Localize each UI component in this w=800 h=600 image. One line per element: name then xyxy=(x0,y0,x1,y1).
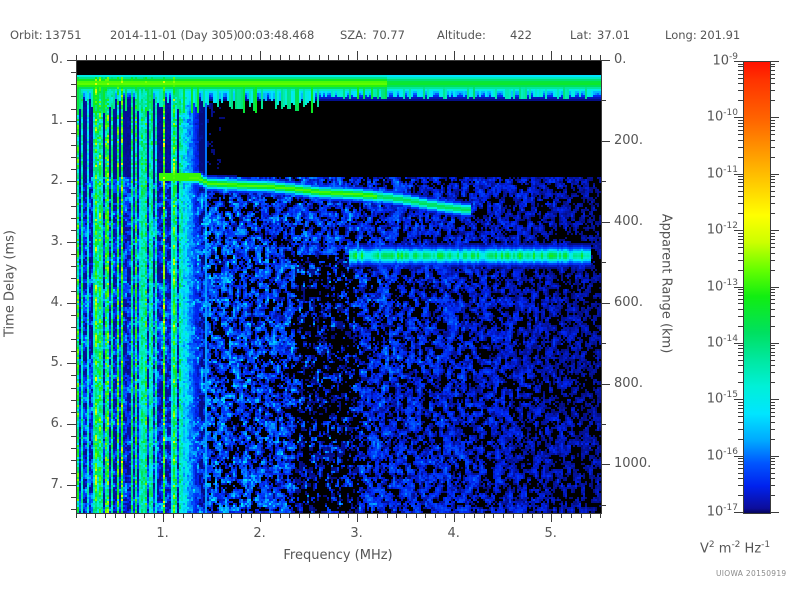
axis-tick xyxy=(513,55,514,60)
axis-tick xyxy=(396,513,397,518)
axis-tick xyxy=(71,291,76,292)
axis-tick xyxy=(154,513,155,518)
axis-tick xyxy=(474,513,475,518)
axis-tick xyxy=(71,109,76,110)
axis-tick xyxy=(601,181,606,182)
axis-tick xyxy=(71,72,76,73)
axis-tick xyxy=(387,55,388,60)
axis-tick xyxy=(445,55,446,60)
axis-tick xyxy=(601,222,610,223)
axis-tick xyxy=(95,55,96,60)
axis-tick xyxy=(71,315,76,316)
colorbar xyxy=(743,61,771,514)
axis-tick xyxy=(600,513,601,518)
axis-tick xyxy=(734,117,743,118)
axis-tick xyxy=(67,424,76,425)
axis-tick xyxy=(309,513,310,518)
axis-tick xyxy=(770,399,779,400)
axis-tick xyxy=(338,513,339,518)
y-left-tick-label-6: 6. xyxy=(0,416,63,431)
axis-tick xyxy=(260,513,261,522)
axis-tick xyxy=(367,55,368,60)
axis-tick xyxy=(192,513,193,518)
x-tick-label-2: 2. xyxy=(253,526,265,541)
axis-tick xyxy=(770,456,779,457)
axis-tick xyxy=(601,384,610,385)
x-tick-label-5: 5. xyxy=(544,526,556,541)
axis-tick xyxy=(601,262,606,263)
axis-tick xyxy=(163,51,164,60)
axis-tick xyxy=(734,287,743,288)
axis-tick xyxy=(601,505,606,506)
axis-tick xyxy=(406,513,407,518)
axis-tick xyxy=(319,55,320,60)
axis-tick xyxy=(71,473,76,474)
y-axis-left-title: Time Delay (ms) xyxy=(3,224,18,344)
y-right-tick-label-1000: 1000. xyxy=(614,456,651,471)
axis-tick xyxy=(241,55,242,60)
axis-tick xyxy=(67,242,76,243)
header-metadata-bar: Orbit: 13751 2014-11-01 (Day 305) 00:03:… xyxy=(0,28,800,46)
watermark-text: UIOWA 20150919 xyxy=(716,569,787,578)
axis-tick xyxy=(542,513,543,518)
colorbar-tick-label--17: 10-17 xyxy=(660,503,738,519)
axis-tick xyxy=(71,509,76,510)
colorbar-gradient xyxy=(744,62,770,513)
axis-tick xyxy=(590,55,591,60)
axis-tick xyxy=(396,55,397,60)
axis-tick xyxy=(86,513,87,518)
axis-tick xyxy=(513,513,514,518)
colorbar-tick-label--15: 10-15 xyxy=(660,390,738,406)
y-left-tick-label-1: 1. xyxy=(0,113,63,128)
axis-tick xyxy=(115,513,116,518)
axis-tick xyxy=(601,100,606,101)
axis-tick xyxy=(601,60,610,61)
axis-tick xyxy=(71,436,76,437)
axis-tick xyxy=(435,55,436,60)
axis-tick xyxy=(134,513,135,518)
axis-tick xyxy=(231,55,232,60)
axis-tick xyxy=(328,513,329,518)
axis-tick xyxy=(183,55,184,60)
axis-tick xyxy=(454,51,455,60)
axis-tick xyxy=(551,513,552,522)
axis-tick xyxy=(770,512,779,513)
axis-tick xyxy=(425,513,426,518)
axis-tick xyxy=(464,55,465,60)
x-tick-label-4: 4. xyxy=(447,526,459,541)
axis-tick xyxy=(551,51,552,60)
long-label: Long: xyxy=(665,28,697,42)
axis-tick xyxy=(115,55,116,60)
orbit-label: Orbit: xyxy=(10,28,43,42)
axis-tick xyxy=(328,55,329,60)
axis-tick xyxy=(71,400,76,401)
y-right-tick-label-600: 600. xyxy=(614,295,643,310)
axis-tick xyxy=(493,55,494,60)
axis-tick xyxy=(163,513,164,522)
axis-tick xyxy=(299,55,300,60)
axis-tick xyxy=(581,55,582,60)
observation-date: 2014-11-01 (Day 305) xyxy=(110,28,238,42)
axis-tick xyxy=(493,513,494,518)
x-tick-label-3: 3. xyxy=(350,526,362,541)
axis-tick xyxy=(280,513,281,518)
orbit-value: 13751 xyxy=(45,28,82,42)
axis-tick xyxy=(309,55,310,60)
axis-tick xyxy=(71,96,76,97)
axis-tick xyxy=(522,55,523,60)
axis-tick xyxy=(601,464,610,465)
y-right-tick-label-0: 0. xyxy=(614,52,626,67)
axis-tick xyxy=(231,513,232,518)
axis-tick xyxy=(590,513,591,518)
axis-tick xyxy=(71,193,76,194)
axis-tick xyxy=(71,460,76,461)
axis-tick xyxy=(601,343,606,344)
axis-tick xyxy=(173,513,174,518)
axis-tick xyxy=(125,55,126,60)
axis-tick xyxy=(425,55,426,60)
axis-tick xyxy=(416,55,417,60)
axis-tick xyxy=(173,55,174,60)
axis-tick xyxy=(416,513,417,518)
axis-tick xyxy=(445,513,446,518)
lat-label: Lat: xyxy=(570,28,592,42)
axis-tick xyxy=(105,513,106,518)
axis-tick xyxy=(503,55,504,60)
axis-tick xyxy=(212,55,213,60)
axis-tick xyxy=(71,206,76,207)
colorbar-tick-label--9: 10-9 xyxy=(660,52,738,68)
axis-tick xyxy=(770,61,779,62)
axis-tick xyxy=(67,181,76,182)
axis-tick xyxy=(71,351,76,352)
axis-tick xyxy=(435,513,436,518)
axis-tick xyxy=(154,55,155,60)
axis-tick xyxy=(71,157,76,158)
axis-tick xyxy=(202,55,203,60)
axis-tick xyxy=(571,513,572,518)
axis-tick xyxy=(270,55,271,60)
spectrogram-image xyxy=(77,61,601,513)
axis-tick xyxy=(71,133,76,134)
y-left-tick-label-5: 5. xyxy=(0,355,63,370)
axis-tick xyxy=(319,513,320,518)
altitude-value: 422 xyxy=(510,28,532,42)
axis-tick xyxy=(484,513,485,518)
lat-value: 37.01 xyxy=(597,28,630,42)
axis-tick xyxy=(76,513,77,518)
axis-tick xyxy=(134,55,135,60)
axis-tick xyxy=(289,513,290,518)
axis-tick xyxy=(503,513,504,518)
axis-tick xyxy=(222,513,223,518)
long-value: 201.91 xyxy=(700,28,740,42)
x-tick-label-1: 1. xyxy=(156,526,168,541)
axis-tick xyxy=(338,55,339,60)
axis-tick xyxy=(474,55,475,60)
axis-tick xyxy=(770,230,779,231)
y-left-tick-label-7: 7. xyxy=(0,477,63,492)
y-right-tick-label-400: 400. xyxy=(614,214,643,229)
axis-tick xyxy=(270,513,271,518)
y-left-tick-label-0: 0. xyxy=(0,52,63,67)
axis-tick xyxy=(601,424,606,425)
axis-tick xyxy=(601,303,610,304)
axis-tick xyxy=(125,513,126,518)
axis-tick xyxy=(734,61,743,62)
axis-tick xyxy=(67,363,76,364)
y-left-tick-label-2: 2. xyxy=(0,173,63,188)
axis-tick xyxy=(522,513,523,518)
axis-tick xyxy=(71,266,76,267)
axis-tick xyxy=(542,55,543,60)
axis-tick xyxy=(86,55,87,60)
axis-tick xyxy=(734,343,743,344)
axis-tick xyxy=(532,55,533,60)
axis-tick xyxy=(561,513,562,518)
observation-time: 00:03:48.468 xyxy=(237,28,314,42)
axis-tick xyxy=(251,513,252,518)
axis-tick xyxy=(71,278,76,279)
axis-tick xyxy=(357,513,358,522)
axis-tick xyxy=(377,55,378,60)
axis-tick xyxy=(144,513,145,518)
axis-tick xyxy=(144,55,145,60)
axis-tick xyxy=(601,141,610,142)
axis-tick xyxy=(770,343,779,344)
axis-tick xyxy=(71,169,76,170)
axis-tick xyxy=(192,55,193,60)
sza-label: SZA: xyxy=(340,28,367,42)
axis-tick xyxy=(105,55,106,60)
axis-tick xyxy=(464,513,465,518)
axis-tick xyxy=(770,287,779,288)
axis-tick xyxy=(734,456,743,457)
axis-tick xyxy=(734,230,743,231)
axis-tick xyxy=(71,327,76,328)
axis-tick xyxy=(71,84,76,85)
axis-tick xyxy=(71,230,76,231)
axis-tick xyxy=(67,60,76,61)
axis-tick xyxy=(561,55,562,60)
sza-value: 70.77 xyxy=(372,28,405,42)
axis-tick xyxy=(484,55,485,60)
colorbar-tick-label--16: 10-16 xyxy=(660,447,738,463)
axis-tick xyxy=(367,513,368,518)
y-right-tick-label-800: 800. xyxy=(614,376,643,391)
axis-tick xyxy=(95,513,96,518)
axis-tick xyxy=(251,55,252,60)
axis-tick xyxy=(222,55,223,60)
colorbar-tick-label--11: 10-11 xyxy=(660,165,738,181)
axis-tick xyxy=(348,513,349,518)
altitude-label: Altitude: xyxy=(437,28,486,42)
axis-tick xyxy=(71,388,76,389)
axis-tick xyxy=(357,51,358,60)
axis-tick xyxy=(280,55,281,60)
axis-tick xyxy=(71,339,76,340)
axis-tick xyxy=(76,55,77,60)
axis-tick xyxy=(348,55,349,60)
axis-tick xyxy=(734,399,743,400)
axis-tick xyxy=(581,513,582,518)
axis-tick xyxy=(183,513,184,518)
axis-tick xyxy=(67,303,76,304)
axis-tick xyxy=(299,513,300,518)
axis-tick xyxy=(71,412,76,413)
axis-tick xyxy=(734,174,743,175)
axis-tick xyxy=(71,448,76,449)
axis-tick xyxy=(212,513,213,518)
axis-tick xyxy=(770,117,779,118)
axis-tick xyxy=(289,55,290,60)
axis-tick xyxy=(71,145,76,146)
axis-tick xyxy=(241,513,242,518)
y-axis-right-title: Apparent Range (km) xyxy=(659,209,674,359)
axis-tick xyxy=(71,497,76,498)
axis-tick xyxy=(71,375,76,376)
colorbar-tick-label--10: 10-10 xyxy=(660,108,738,124)
axis-tick xyxy=(532,513,533,518)
axis-tick xyxy=(571,55,572,60)
y-right-tick-label-200: 200. xyxy=(614,133,643,148)
ionogram-spectrogram-plot xyxy=(76,60,602,514)
axis-tick xyxy=(406,55,407,60)
axis-tick xyxy=(454,513,455,522)
axis-tick xyxy=(734,512,743,513)
colorbar-units-label: V2 m-2 Hz-1 xyxy=(700,540,770,556)
axis-tick xyxy=(202,513,203,518)
axis-tick xyxy=(387,513,388,518)
axis-tick xyxy=(377,513,378,518)
axis-tick xyxy=(71,218,76,219)
x-axis-title: Frequency (MHz) xyxy=(278,548,398,563)
axis-tick xyxy=(67,121,76,122)
axis-tick xyxy=(71,254,76,255)
axis-tick xyxy=(67,485,76,486)
axis-tick xyxy=(770,174,779,175)
axis-tick xyxy=(260,51,261,60)
